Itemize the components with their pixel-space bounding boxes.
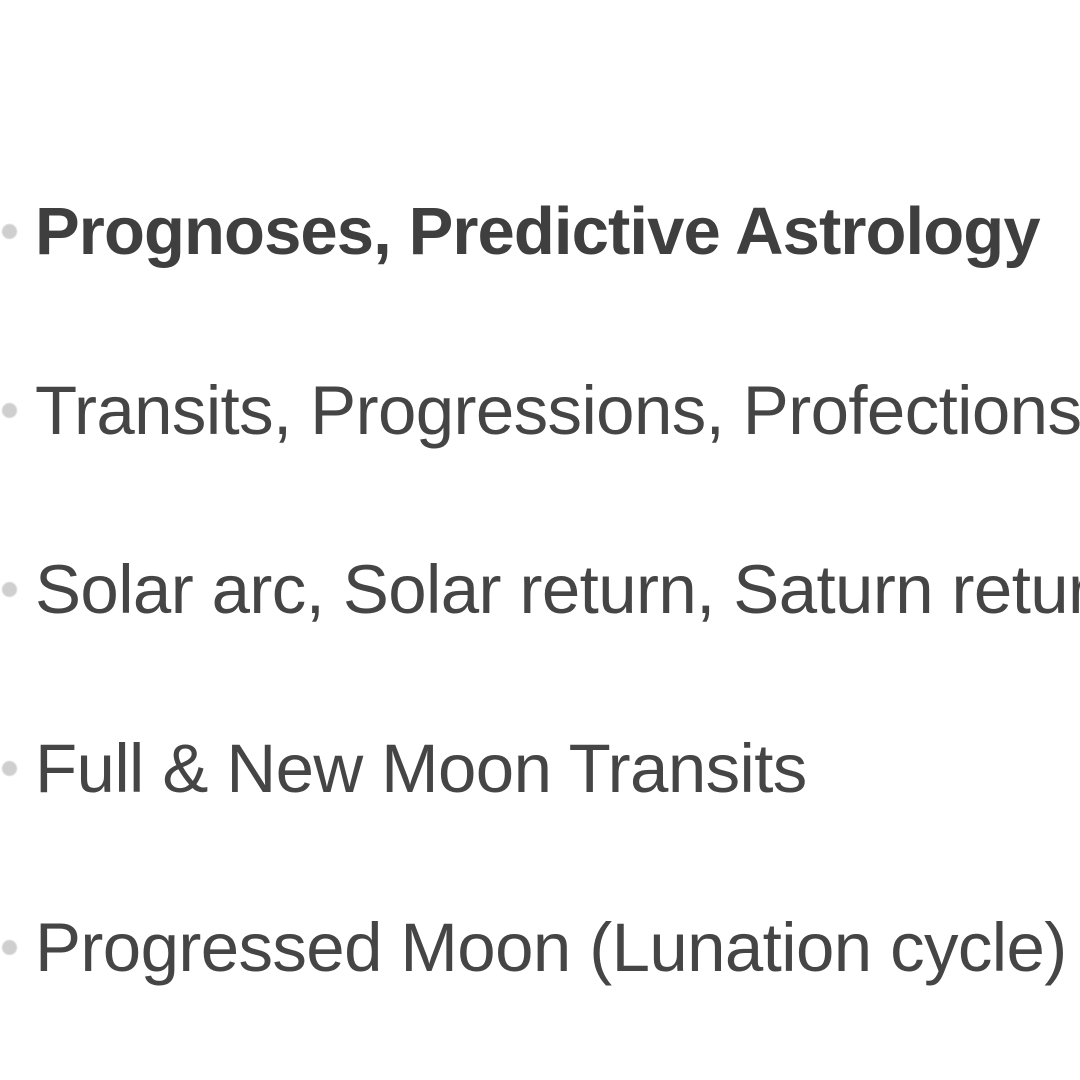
list-item-label: Solar arc, Solar return, Saturn return (35, 554, 1080, 626)
dot-bullet-icon (2, 224, 17, 239)
bullet-list: Prognoses, Predictive Astrology Transits… (0, 196, 1080, 1080)
dot-bullet-icon (2, 582, 17, 597)
list-item: Progressed Moon (Lunation cycle) (0, 912, 1080, 1080)
list-item-label: Progressed Moon (Lunation cycle) (35, 912, 1080, 984)
list-item: Full & New Moon Transits (0, 733, 1080, 912)
list-item-label: Full & New Moon Transits (35, 733, 1080, 805)
dot-bullet-icon (2, 761, 17, 776)
list-item: Solar arc, Solar return, Saturn return (0, 554, 1080, 733)
document-viewport: Prognoses & Deep Prognoses, Predictive A… (0, 0, 1080, 1080)
list-item-label: Prognoses, Predictive Astrology (35, 196, 1080, 268)
list-item: Prognoses, Predictive Astrology (0, 196, 1080, 375)
dot-bullet-icon (2, 403, 17, 418)
list-item: Transits, Progressions, Profections (0, 375, 1080, 554)
list-item-label: Transits, Progressions, Profections (35, 375, 1080, 447)
dot-bullet-icon (2, 940, 17, 955)
